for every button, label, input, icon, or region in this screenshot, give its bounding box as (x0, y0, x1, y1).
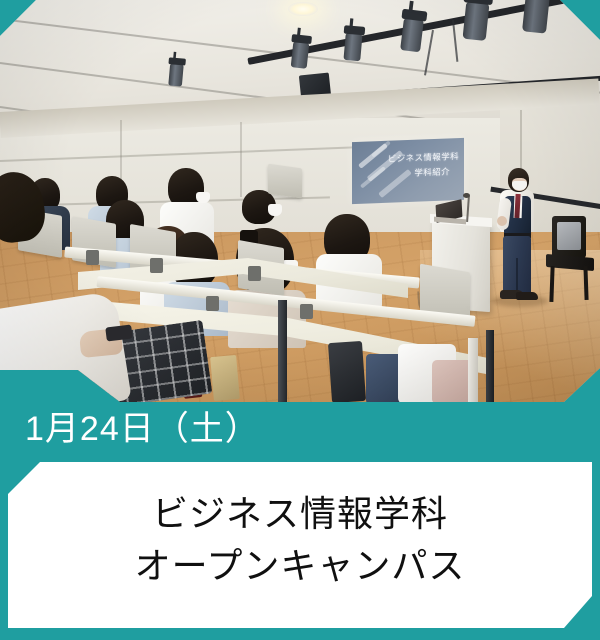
desk-post (468, 338, 478, 402)
projection-screen: ビジネス情報学科 学科紹介 (352, 138, 464, 204)
desk-post (278, 300, 287, 402)
stage-spotlight (291, 41, 310, 69)
desk-bracket (86, 250, 99, 265)
side-chair-cushion (557, 222, 581, 250)
bag (210, 355, 240, 401)
stage-spotlight (522, 0, 550, 34)
slide-graphic (360, 166, 386, 188)
desk-bracket (300, 304, 313, 319)
desk-bracket (248, 266, 261, 281)
slide-graphic (378, 169, 412, 198)
stage-spotlight (168, 63, 183, 86)
desk-post (486, 330, 494, 402)
ceiling-lamp (288, 2, 318, 16)
stage-spotlight (343, 33, 362, 62)
stage-spotlight (400, 18, 424, 53)
seat-divider (268, 164, 302, 199)
lecture-hall-photo: ビジネス情報学科 学科紹介 (0, 0, 600, 402)
stage-spotlight (462, 1, 489, 41)
slide-subtitle: 学科紹介 (414, 165, 450, 178)
presenter-hand (497, 216, 507, 226)
event-info-card[interactable]: ビジネス情報学科 オープンキャンパス (8, 462, 592, 628)
event-title-line-2: オープンキャンパス (8, 540, 592, 592)
wall-panel-seam (240, 122, 242, 197)
bag (328, 341, 366, 402)
desk-bracket (206, 296, 219, 311)
face-mask-icon (268, 204, 282, 216)
slide-title: ビジネス情報学科 (388, 150, 459, 165)
event-promo-card[interactable]: ビジネス情報学科 学科紹介 (0, 0, 600, 640)
event-photo: ビジネス情報学科 学科紹介 (0, 0, 600, 402)
desk-bracket (150, 258, 163, 273)
presenter-shoe (516, 292, 538, 300)
presenter-leg-seam (516, 258, 518, 294)
event-title-line-1: ビジネス情報学科 (8, 488, 592, 540)
event-title: ビジネス情報学科 オープンキャンパス (8, 488, 592, 592)
event-date: 1月24日（土） (25, 406, 260, 452)
face-mask-icon (196, 192, 210, 203)
microphone (463, 193, 470, 198)
